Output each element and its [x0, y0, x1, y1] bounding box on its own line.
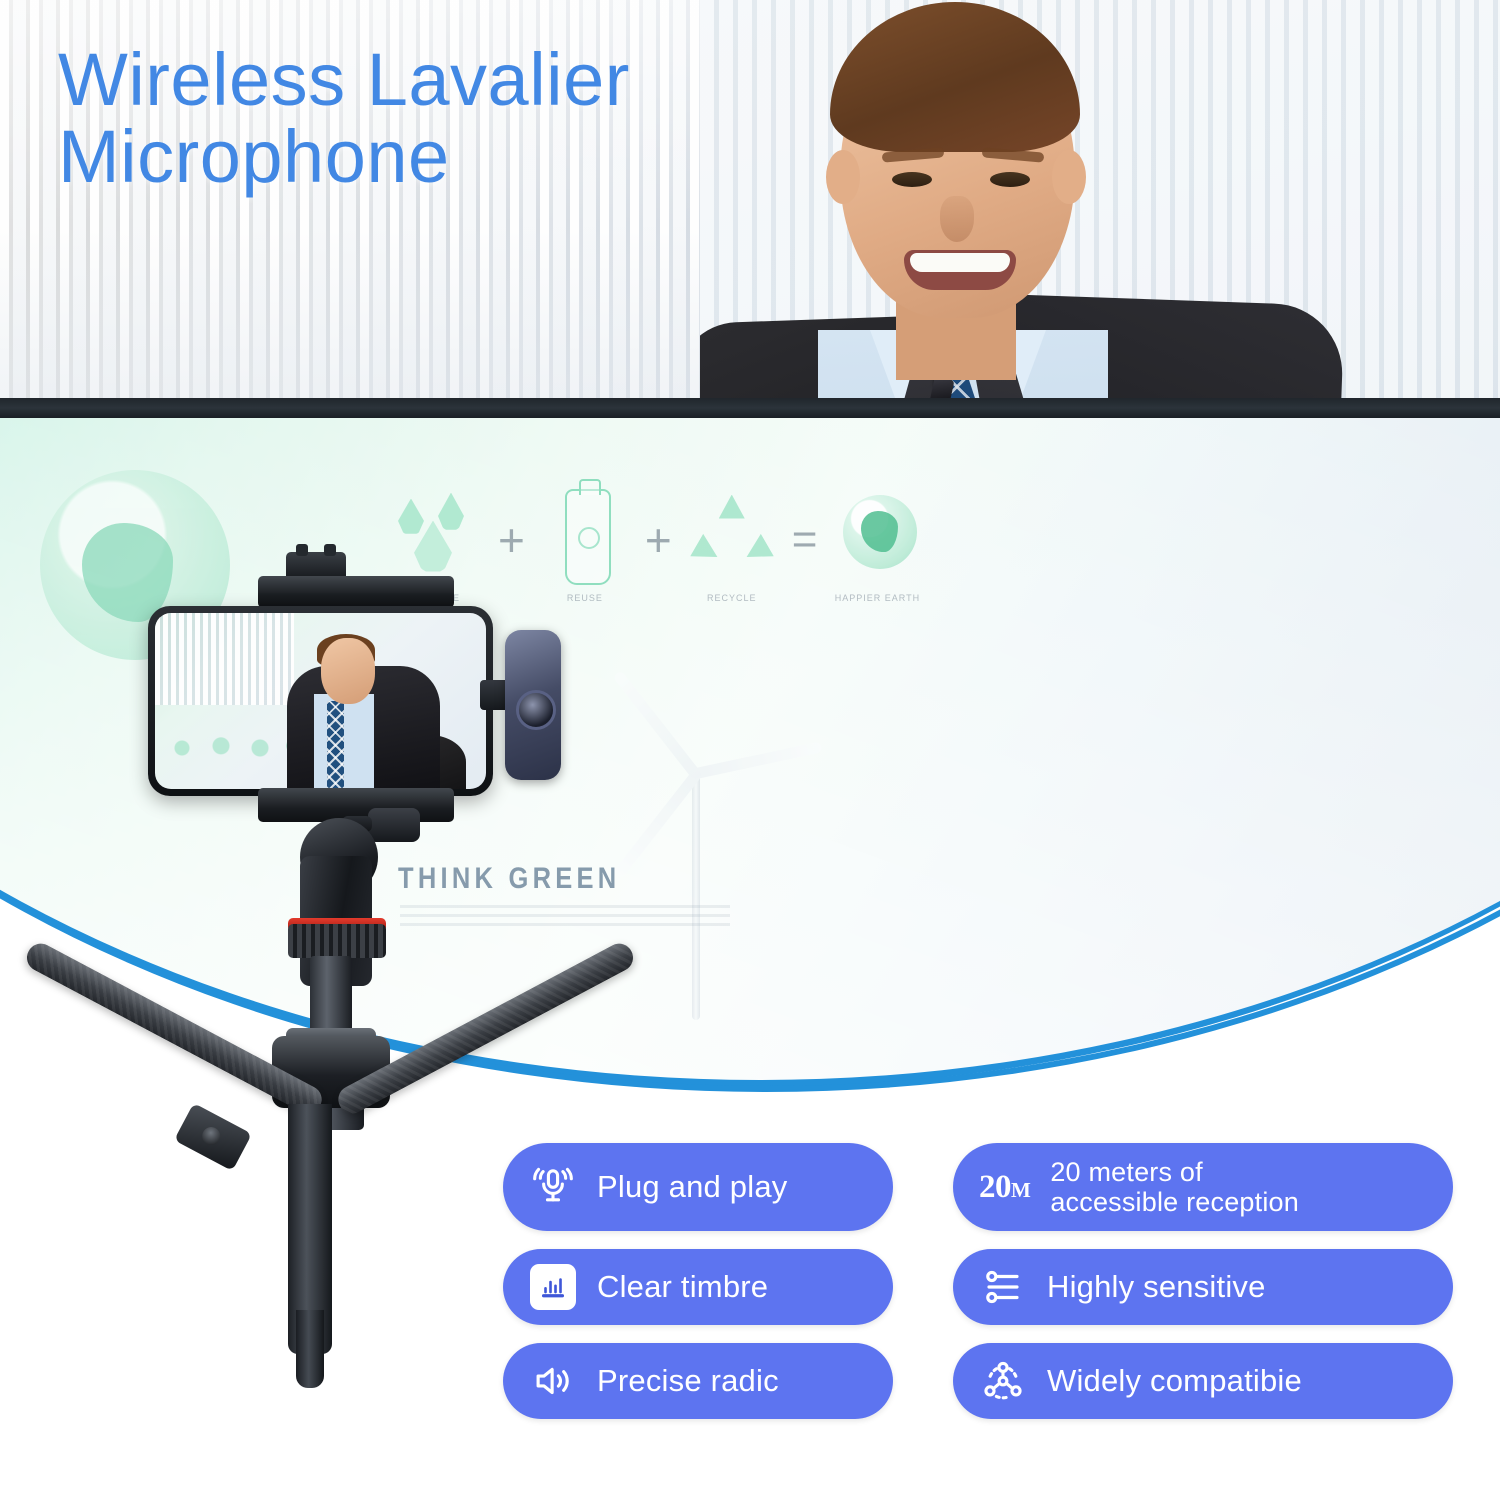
- feature-pill-widely-compatible[interactable]: Widely compatibie: [953, 1343, 1453, 1419]
- eco-caption-recycle: RECYCLE: [686, 593, 778, 603]
- feature-label: Plug and play: [597, 1170, 787, 1205]
- page-title: Wireless Lavalier Microphone: [58, 42, 630, 196]
- smartphone: [148, 606, 493, 796]
- nose: [940, 196, 974, 242]
- wireless-receiver-icon: [505, 630, 561, 780]
- network-hub-icon: [979, 1357, 1027, 1405]
- eco-caption-earth: HAPPIER EARTH: [831, 593, 923, 603]
- eco-operator-plus-2: +: [645, 517, 672, 563]
- feature-pill-clear-timbre[interactable]: Clear timbre: [503, 1249, 893, 1325]
- 20m-badge: 20M: [979, 1169, 1030, 1206]
- title-line-2: Microphone: [58, 119, 630, 196]
- ear-left: [826, 150, 860, 204]
- microphone-wave-icon: [529, 1163, 577, 1211]
- feature-label: Precise radic: [597, 1364, 779, 1399]
- feature-label: 20 meters of accessible reception: [1050, 1157, 1299, 1217]
- feature-label: Highly sensitive: [1047, 1270, 1266, 1305]
- equalizer-card-icon: [529, 1263, 577, 1311]
- title-line-1: Wireless Lavalier: [58, 38, 630, 121]
- badge-number: 20: [979, 1169, 1011, 1205]
- feature-label: Widely compatibie: [1047, 1364, 1302, 1399]
- feature-pill-plug-and-play[interactable]: Plug and play: [503, 1143, 893, 1231]
- tilt-knob: [368, 808, 420, 842]
- tripod-leg-left: [22, 939, 327, 1119]
- leg-lock-button: [174, 1103, 252, 1171]
- speaker-volume-icon: [529, 1357, 577, 1405]
- locking-collar: [288, 924, 386, 958]
- badge-unit: M: [1011, 1178, 1030, 1202]
- product-tripod-phone-mount: [0, 520, 560, 1460]
- feature-pill-20-meters[interactable]: 20M 20 meters of accessible reception: [953, 1143, 1453, 1231]
- phone-screen-preview: [155, 613, 486, 789]
- eco-operator-equals: =: [792, 515, 818, 565]
- sliders-icon: [979, 1263, 1027, 1311]
- eco-item-recycle: RECYCLE: [686, 481, 778, 599]
- screen-bezel: [0, 398, 1500, 420]
- feature-label: Clear timbre: [597, 1270, 768, 1305]
- eco-item-earth: HAPPIER EARTH: [831, 481, 923, 599]
- ear-right: [1052, 150, 1086, 204]
- mouth: [904, 250, 1016, 290]
- phone-clamp-top: [258, 576, 454, 608]
- product-marketing-banner: REDUCE + REUSE + RECYCLE = HAPPIER EARTH: [0, 0, 1500, 1500]
- center-column-extension: [296, 1310, 324, 1388]
- eye-right: [990, 172, 1030, 187]
- feature-pill-precise-radic[interactable]: Precise radic: [503, 1343, 893, 1419]
- feature-label-line-1: 20 meters of: [1050, 1157, 1202, 1187]
- feature-label-line-2: accessible reception: [1050, 1187, 1299, 1217]
- eye-left: [892, 172, 932, 187]
- feature-pill-highly-sensitive[interactable]: Highly sensitive: [953, 1249, 1453, 1325]
- feature-pill-grid: Plug and play 20M 20 meters of accessibl…: [503, 1143, 1463, 1419]
